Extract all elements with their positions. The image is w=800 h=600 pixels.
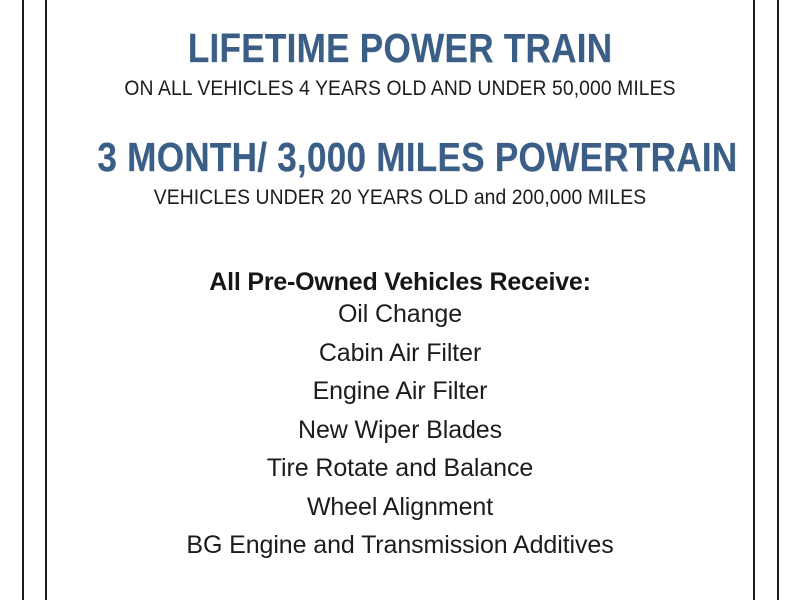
list-item: Tire Rotate and Balance [48,449,752,488]
border-rule-right-outer [777,0,779,600]
services-list: Oil Change Cabin Air Filter Engine Air F… [48,295,752,565]
border-rule-left-inner [45,0,47,600]
three-month-powertrain-headline: 3 MONTH/ 3,000 MILES POWERTRAIN [97,137,702,178]
section-spacer-1 [48,101,752,137]
warranty-flyer: LIFETIME POWER TRAIN ON ALL VEHICLES 4 Y… [0,0,800,600]
flyer-content: LIFETIME POWER TRAIN ON ALL VEHICLES 4 Y… [48,0,752,565]
list-item: BG Engine and Transmission Additives [48,526,752,565]
section-spacer-2 [48,210,752,270]
border-rule-left-outer [22,0,24,600]
list-item: Wheel Alignment [48,488,752,527]
services-heading: All Pre-Owned Vehicles Receive: [48,270,752,295]
lifetime-powertrain-subhead: ON ALL VEHICLES 4 YEARS OLD AND UNDER 50… [76,77,724,101]
list-item: Cabin Air Filter [48,334,752,373]
list-item: Engine Air Filter [48,372,752,411]
three-month-powertrain-subhead: VEHICLES UNDER 20 YEARS OLD and 200,000 … [76,186,724,210]
list-item: Oil Change [48,295,752,334]
list-item: New Wiper Blades [48,411,752,450]
lifetime-powertrain-headline: LIFETIME POWER TRAIN [97,28,702,69]
border-rule-right-inner [753,0,755,600]
